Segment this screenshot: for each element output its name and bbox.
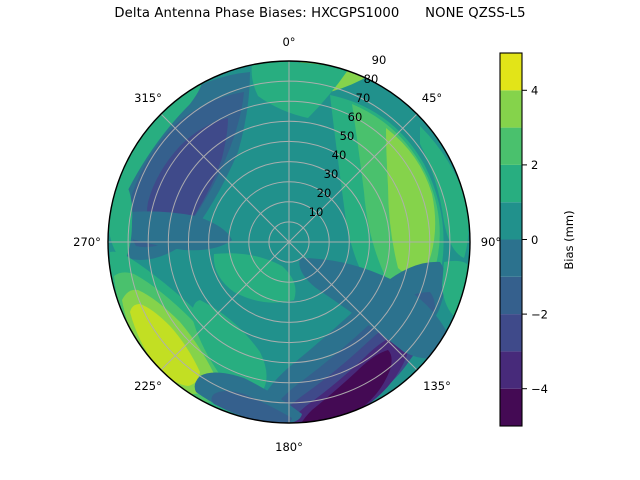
colorbar-band--5--4 <box>500 389 522 426</box>
colorbar-tick--4: −4 <box>531 382 548 396</box>
colorbar-tick--2: −2 <box>531 307 548 321</box>
colorbar-tick-4: 4 <box>531 84 538 98</box>
colorbar-band-0-1 <box>500 202 522 239</box>
colorbar-band--2--1 <box>500 277 522 314</box>
theta-tick-270: 270° <box>73 235 101 249</box>
r-tick-30: 30 <box>324 167 339 181</box>
colorbar[interactable]: 4 2 0 −2 −4 Bias (mm) <box>500 53 576 426</box>
theta-tick-0: 0° <box>282 35 295 49</box>
polar-grid <box>108 61 470 423</box>
theta-tick-315: 315° <box>134 91 162 105</box>
theta-tick-45: 45° <box>422 91 442 105</box>
colorbar-band--1-0 <box>500 240 522 277</box>
r-tick-40: 40 <box>332 148 347 162</box>
theta-tick-90: 90° <box>481 235 501 249</box>
r-tick-50: 50 <box>340 129 355 143</box>
colorbar-tick-labels: 4 2 0 −2 −4 <box>531 84 548 396</box>
colorbar-bands <box>500 53 522 426</box>
r-tick-20: 20 <box>317 186 332 200</box>
colorbar-tick-0: 0 <box>531 233 538 247</box>
theta-tick-225: 225° <box>134 379 162 393</box>
colorbar-band-1-2 <box>500 165 522 202</box>
theta-tick-135: 135° <box>423 379 451 393</box>
plot-svg: 0° 45° 90° 135° 180° 225° 270° 315° 10 2… <box>0 0 640 480</box>
r-tick-80: 80 <box>364 72 379 86</box>
theta-tick-180: 180° <box>275 440 303 454</box>
r-tick-90: 90 <box>372 53 387 67</box>
r-tick-10: 10 <box>309 205 324 219</box>
colorbar-ticks <box>522 90 527 388</box>
polar-contour-plot: 0° 45° 90° 135° 180° 225° 270° 315° 10 2… <box>0 0 640 480</box>
colorbar-band-2-3 <box>500 128 522 165</box>
colorbar-axis-label: Bias (mm) <box>562 210 576 269</box>
r-tick-60: 60 <box>348 110 363 124</box>
colorbar-band--4--3 <box>500 351 522 388</box>
colorbar-band-3-4 <box>500 90 522 127</box>
colorbar-tick-2: 2 <box>531 158 538 172</box>
colorbar-band--3--2 <box>500 314 522 351</box>
colorbar-band-4-5 <box>500 53 522 90</box>
r-tick-70: 70 <box>356 91 371 105</box>
